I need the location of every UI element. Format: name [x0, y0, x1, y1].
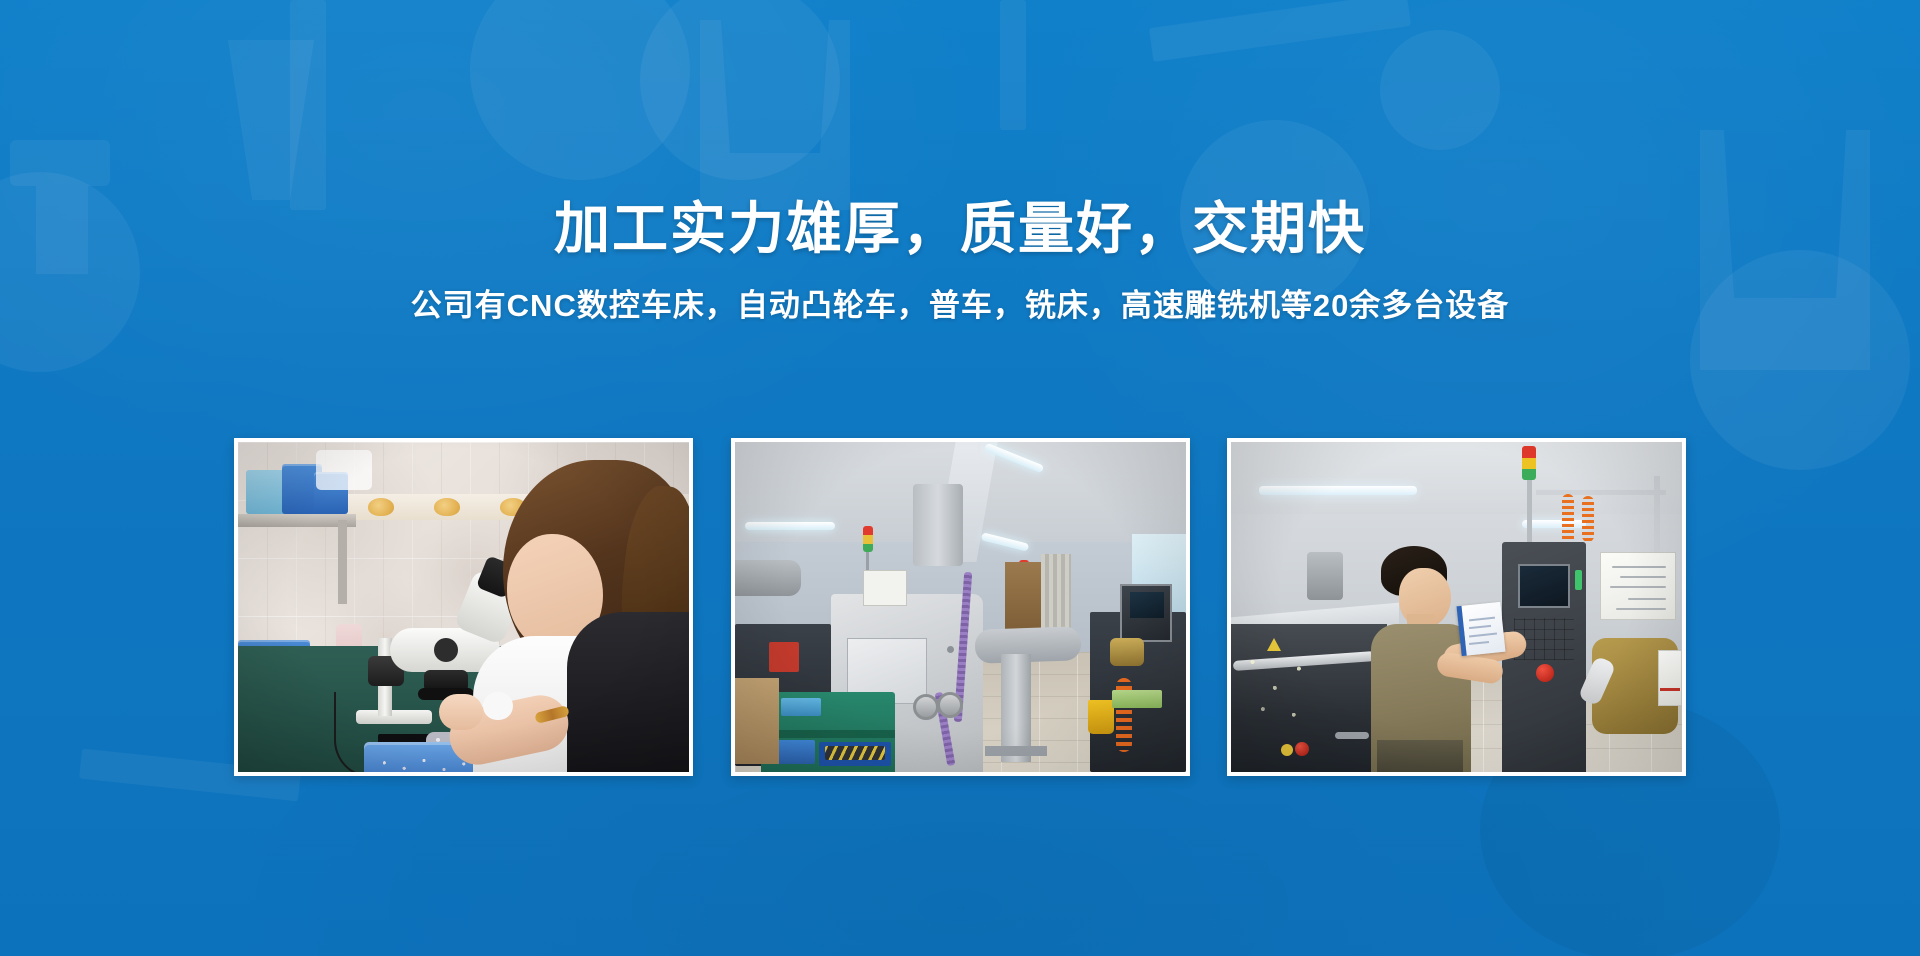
p3-safety-sign-warning-bar [1660, 688, 1680, 691]
p2-pulley-wheel [913, 694, 939, 720]
p1-tile-flower-motif [434, 498, 460, 516]
p2-andon-light [863, 526, 873, 552]
p1-worker-hand [439, 694, 483, 730]
p2-yellow-bucket [1088, 700, 1114, 734]
p1-microscope-base [356, 710, 432, 724]
p3-orange-wire [1562, 494, 1574, 546]
p3-orange-wire [1582, 496, 1594, 542]
promo-banner: 加工实力雄厚，质量好，交期快 公司有CNC数控车床，自动凸轮车，普车，铣床，高速… [0, 0, 1920, 956]
p2-tool-cart-shelf [761, 730, 895, 738]
p3-chart-line [1610, 586, 1666, 588]
gallery-photo-quality-inspection[interactable] [234, 438, 693, 776]
p2-cardboard-box [735, 678, 779, 764]
photo-image-cnc-workshop [735, 442, 1186, 772]
gallery-photo-cnc-operator[interactable] [1227, 438, 1686, 776]
p1-worker-vest [567, 612, 689, 772]
gallery-photo-cnc-workshop[interactable] [731, 438, 1190, 776]
p2-bar-feeder-base [985, 746, 1047, 756]
p2-machine-dust-column [913, 484, 963, 566]
p2-cart-tools [825, 746, 885, 760]
p2-cart-bin [781, 698, 821, 716]
p2-machine-bolt [947, 646, 954, 653]
p3-emergency-stop-button[interactable] [1536, 664, 1554, 682]
p2-duct [735, 560, 801, 596]
page-subtitle: 公司有CNC数控车床，自动凸轮车，普车，铣床，高速雕铣机等20余多台设备 [0, 284, 1920, 328]
p3-machine-button-red [1295, 742, 1309, 756]
p2-machine-doc-sheet [863, 570, 907, 606]
photo-image-quality-inspection [238, 442, 689, 772]
p3-fluorescent-tube [1259, 486, 1417, 495]
p3-chip-highlights [1237, 638, 1323, 734]
p3-safety-sign [1658, 650, 1682, 706]
p3-extraction-hood [1307, 552, 1343, 600]
p3-chart-line [1616, 608, 1666, 610]
p1-tile-flower-motif [368, 498, 394, 516]
p3-drawing-sheet [1457, 602, 1506, 656]
p2-pulley-wheel [937, 692, 963, 718]
p3-machine-button-yellow [1281, 744, 1293, 756]
p3-ceiling-pipe-horizontal [1536, 490, 1666, 495]
p3-chart-line [1612, 566, 1666, 568]
p3-operator-trousers [1377, 740, 1463, 772]
page-title: 加工实力雄厚，质量好，交期快 [0, 194, 1920, 264]
p3-cnc-screen [1518, 564, 1570, 608]
p2-wall-curtain [1041, 554, 1071, 638]
p2-lathe-left-panel [769, 642, 799, 672]
p2-cart-bin [775, 740, 815, 764]
photo-image-cnc-operator [1231, 442, 1682, 772]
p3-chart-line [1620, 576, 1666, 578]
p1-shelf-leg [338, 520, 347, 604]
p2-lathe-right-screen [1130, 592, 1164, 618]
p2-green-tray [1112, 690, 1162, 708]
p1-worker-finger-cot [483, 692, 513, 720]
p1-plastic-bag [316, 450, 372, 490]
p3-cnc-green-indicator [1575, 570, 1582, 590]
p2-lathe-chuck-glow [1110, 638, 1144, 666]
p3-chart-line [1628, 598, 1666, 600]
p3-andon-light [1522, 446, 1536, 480]
p2-fluorescent-tube [745, 522, 835, 530]
p3-machine-handle [1335, 732, 1369, 739]
p1-microscope-knob [434, 638, 458, 662]
photo-gallery [234, 438, 1686, 776]
